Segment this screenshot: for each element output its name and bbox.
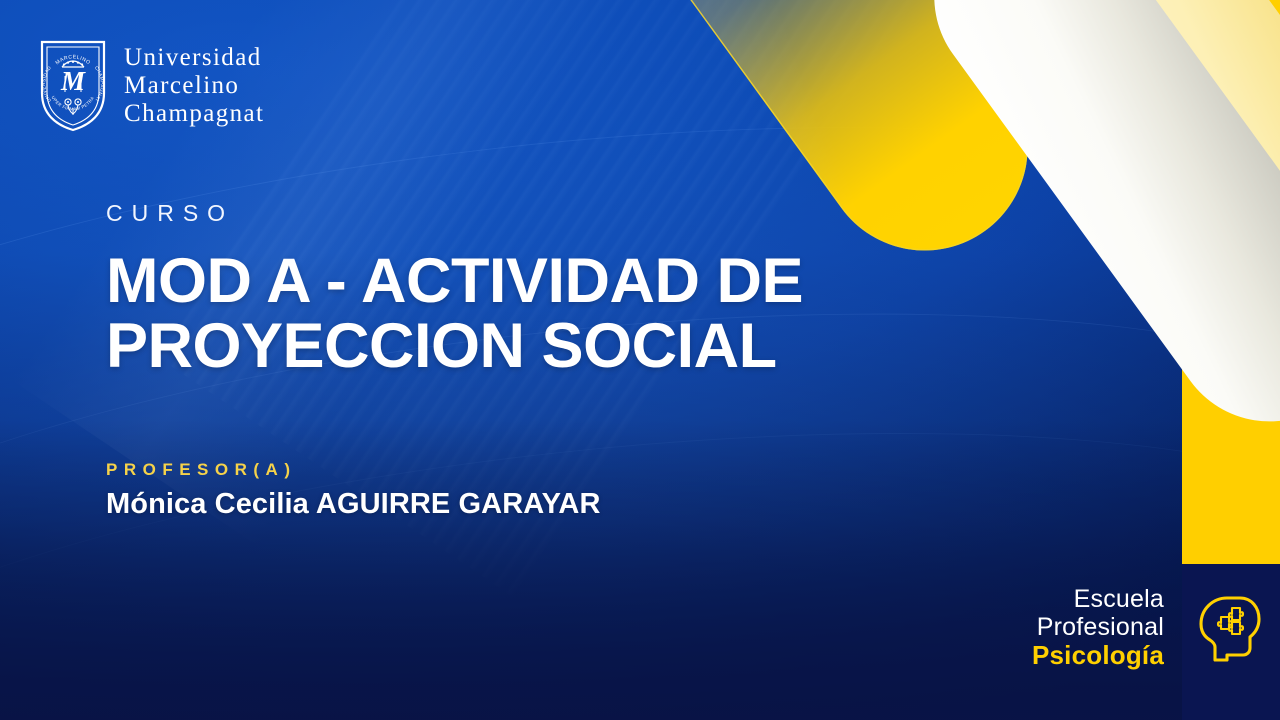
university-crest-icon: MARCELINO UNIVERSIDAD CHAMPAGNAT SUPER F…: [38, 38, 108, 133]
professor-name: Mónica Cecilia AGUIRRE GARAYAR: [106, 488, 601, 521]
professor-group: PROFESOR(A) Mónica Cecilia AGUIRRE GARAY…: [106, 460, 601, 521]
university-name-line2: Marcelino: [124, 72, 264, 100]
course-title: MOD A - ACTIVIDAD DE PROYECCION SOCIAL: [106, 249, 906, 379]
university-logo: MARCELINO UNIVERSIDAD CHAMPAGNAT SUPER F…: [38, 38, 264, 133]
course-kicker-label: CURSO: [106, 200, 936, 227]
school-badge: Escuela Profesional Psicología: [1032, 585, 1164, 670]
school-badge-line1: Escuela: [1032, 585, 1164, 613]
university-name-line3: Champagnat: [124, 100, 264, 128]
school-badge-line3: Psicología: [1032, 641, 1164, 670]
slide-headline-group: CURSO MOD A - ACTIVIDAD DE PROYECCION SO…: [106, 200, 936, 379]
school-badge-line2: Profesional: [1032, 613, 1164, 641]
svg-text:M: M: [60, 66, 86, 96]
course-title-slide: MARCELINO UNIVERSIDAD CHAMPAGNAT SUPER F…: [0, 0, 1280, 720]
university-name: Universidad Marcelino Champagnat: [124, 44, 264, 128]
professor-label: PROFESOR(A): [106, 460, 601, 480]
university-name-line1: Universidad: [124, 44, 264, 72]
svg-text:MARCELINO: MARCELINO: [55, 54, 92, 66]
head-puzzle-brain-icon: [1196, 592, 1262, 664]
